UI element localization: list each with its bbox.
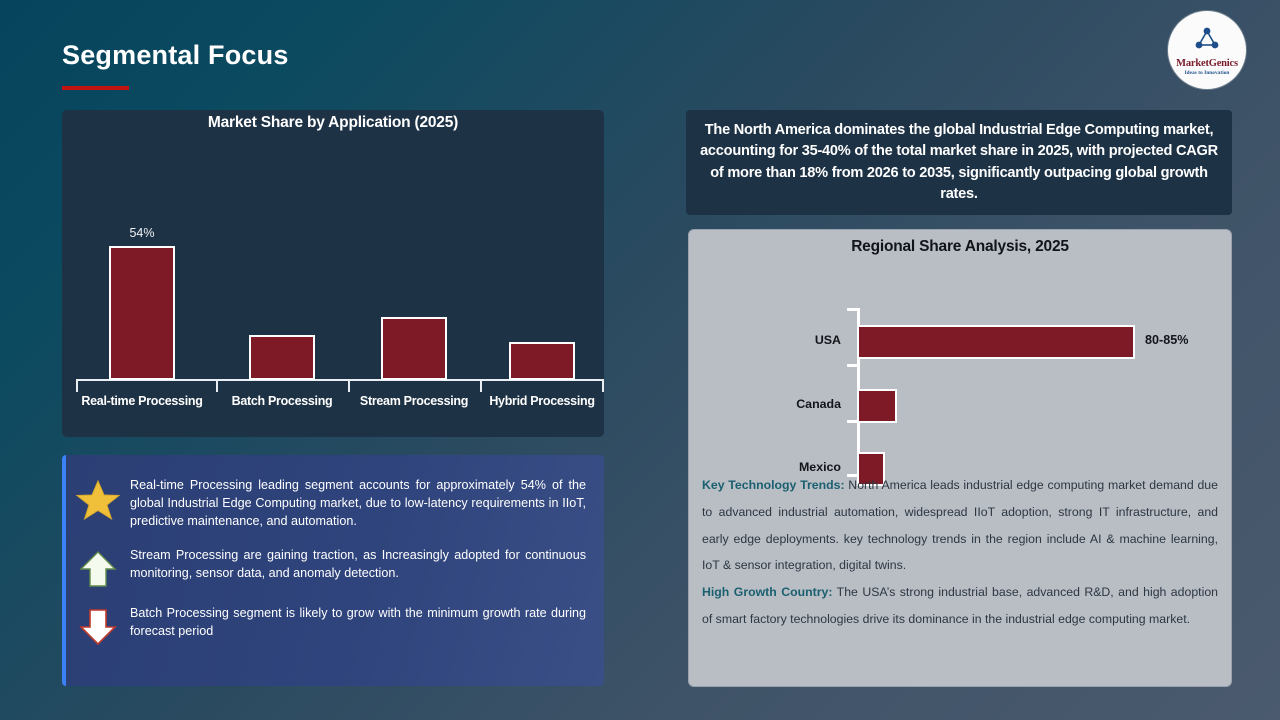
y-axis-tick — [847, 364, 858, 367]
note-paragraph: High Growth Country: The USA’s strong in… — [702, 579, 1218, 633]
note-heading: Key Technology Trends: — [702, 478, 845, 492]
title-underline — [62, 86, 129, 90]
bar-group[interactable]: 54% Real-time Processing — [76, 206, 208, 481]
bar-category-label: USA — [815, 333, 841, 347]
list-item: Real-time Processing leading segment acc… — [66, 477, 590, 531]
bar[interactable] — [249, 335, 315, 380]
y-axis-tick — [847, 308, 858, 311]
note-paragraph: Key Technology Trends: North America lea… — [702, 472, 1218, 579]
callout-text: The North America dominates the global I… — [700, 120, 1218, 205]
regional-panel: Regional Share Analysis, 2025 USA 80-85%… — [688, 229, 1232, 687]
logo-tagline: Ideas to Innovation — [1185, 70, 1230, 76]
bar[interactable] — [857, 325, 1135, 359]
bar[interactable] — [109, 246, 175, 380]
bar-category-label: Stream Processing — [348, 394, 480, 408]
callout-box: The North America dominates the global I… — [686, 110, 1232, 215]
bar-category-label: Real-time Processing — [76, 394, 208, 408]
insight-text: Batch Processing segment is likely to gr… — [130, 605, 590, 641]
bar-category-label: Hybrid Processing — [476, 394, 608, 408]
bar-value-label: 80-85% — [1145, 333, 1188, 347]
list-item: Batch Processing segment is likely to gr… — [66, 605, 590, 647]
network-nodes-icon — [1192, 26, 1222, 57]
logo-brand-name: MarketGenics — [1176, 58, 1238, 69]
star-icon — [66, 477, 130, 521]
bar[interactable] — [509, 342, 575, 380]
application-chart-plot: 54% Real-time Processing Batch Processin… — [76, 206, 604, 481]
list-item: Stream Processing are gaining traction, … — [66, 547, 590, 589]
arrow-up-icon — [66, 547, 130, 589]
note-heading: High Growth Country: — [702, 585, 832, 599]
bar[interactable] — [381, 317, 447, 380]
insight-text: Stream Processing are gaining traction, … — [130, 547, 590, 583]
bar-group[interactable]: Hybrid Processing — [476, 206, 608, 481]
bar-value-label: 54% — [76, 226, 208, 240]
bar-category-label: Batch Processing — [216, 394, 348, 408]
regional-chart-plot: USA 80-85% Canada Mexico — [689, 268, 1233, 468]
insights-panel: Real-time Processing leading segment acc… — [62, 455, 604, 686]
note-body: North America leads industrial edge comp… — [702, 478, 1218, 572]
page-title: Segmental Focus — [62, 40, 289, 71]
bar-category-label: Canada — [796, 397, 841, 411]
bar-group[interactable]: Stream Processing — [348, 206, 480, 481]
insight-text: Real-time Processing leading segment acc… — [130, 477, 590, 531]
bar-group[interactable]: Batch Processing — [216, 206, 348, 481]
application-chart-panel: Market Share by Application (2025) 54% R… — [62, 110, 604, 437]
bar-group[interactable]: USA 80-85% — [857, 325, 1229, 359]
regional-chart-title: Regional Share Analysis, 2025 — [689, 230, 1231, 256]
bar[interactable] — [857, 389, 897, 423]
bar-group[interactable]: Canada — [857, 389, 1229, 423]
arrow-down-icon — [66, 605, 130, 647]
application-chart-title: Market Share by Application (2025) — [62, 110, 604, 132]
regional-notes: Key Technology Trends: North America lea… — [689, 472, 1231, 633]
company-logo: MarketGenics Ideas to Innovation — [1168, 11, 1246, 89]
